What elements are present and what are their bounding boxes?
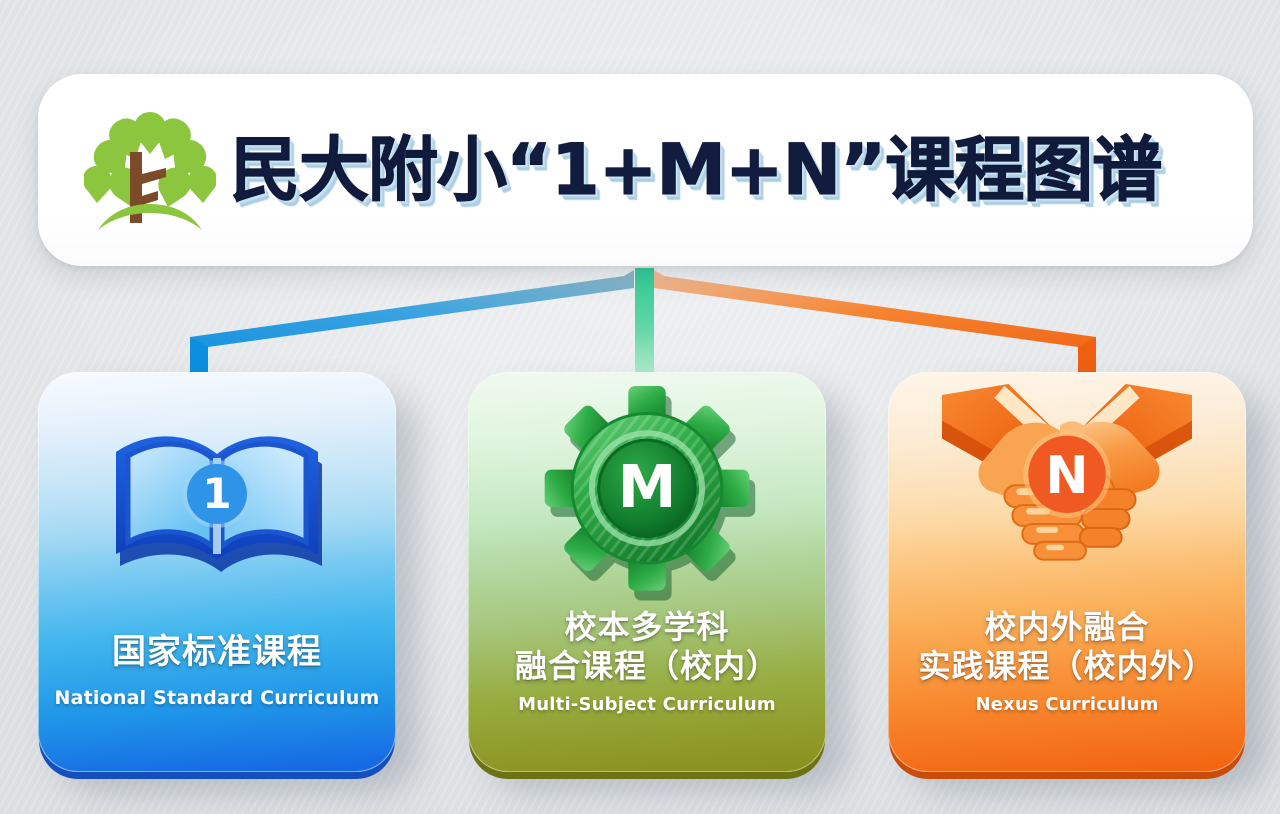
connector-center (635, 268, 654, 378)
card-1-text: 国家标准课程 National Standard Curriculum (38, 632, 396, 772)
card-3-title-cn-1: 实践课程（校内外） (888, 647, 1246, 686)
badge-label-m: M (618, 452, 677, 521)
card-2-title-cn-0: 校本多学科 (468, 608, 826, 647)
badge-label-1: 1 (202, 469, 231, 518)
gear-icon: M (522, 384, 772, 608)
school-tree-logo (84, 106, 216, 234)
card-1-title-cn-0: 国家标准课程 (38, 632, 396, 673)
infographic-canvas: 民大附小“1+M+N”课程图谱 (0, 0, 1280, 814)
card-2-text: 校本多学科 融合课程（校内） Multi-Subject Curriculum (468, 608, 826, 772)
handshake-icon: N (942, 378, 1192, 608)
card-3-text: 校内外融合 实践课程（校内外） Nexus Curriculum (888, 608, 1246, 772)
card-2-title-en: Multi-Subject Curriculum (468, 694, 826, 716)
connector-right (654, 270, 1096, 378)
tree-foliage-icon (84, 112, 216, 207)
page-title: 民大附小“1+M+N”课程图谱 (230, 135, 1161, 205)
tree-hill-icon (98, 204, 202, 230)
card-national-standard-curriculum[interactable]: 1 国家标准课程 National Standard Curriculum (38, 372, 396, 772)
card-multi-subject-curriculum[interactable]: M 校本多学科 融合课程（校内） Multi-Subject Curriculu… (468, 372, 826, 772)
card-3-title-cn-0: 校内外融合 (888, 608, 1246, 647)
open-book-icon: 1 (92, 394, 342, 609)
card-nexus-curriculum[interactable]: N 校内外融合 实践课程（校内外） Nexus Curriculum (888, 372, 1246, 772)
badge-label-n: N (1045, 446, 1088, 506)
card-3-title-en: Nexus Curriculum (888, 694, 1246, 716)
connector-left (190, 270, 634, 378)
card-1-title-en: National Standard Curriculum (38, 687, 396, 710)
card-row: 1 国家标准课程 National Standard Curriculum (0, 372, 1280, 776)
header-panel: 民大附小“1+M+N”课程图谱 (38, 74, 1253, 266)
card-2-title-cn-1: 融合课程（校内） (468, 647, 826, 686)
